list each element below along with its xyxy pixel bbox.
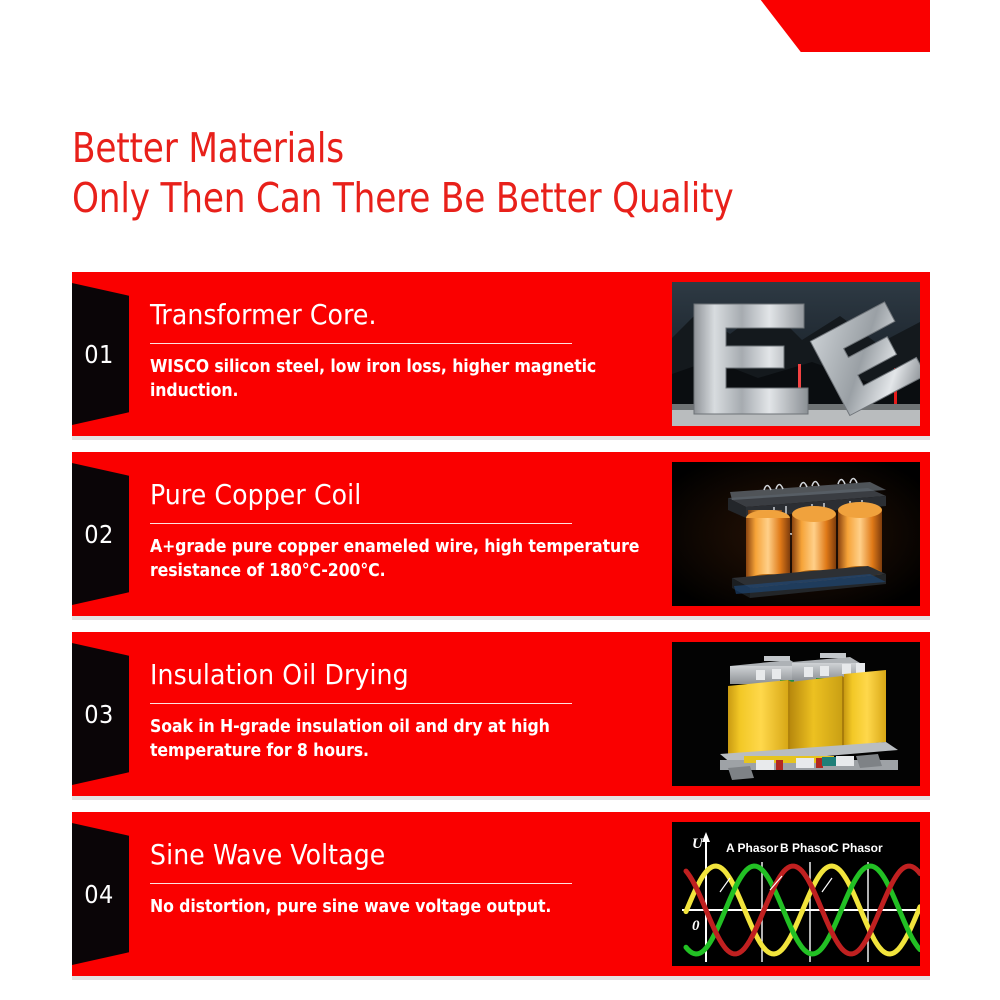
card-divider — [150, 883, 572, 884]
card-number-badge: 01 — [72, 283, 129, 425]
card-number-label: 03 — [84, 700, 117, 729]
card-number-label: 01 — [84, 340, 117, 369]
card-title: Sine Wave Voltage — [150, 838, 655, 872]
page-title-line-1: Better Materials — [72, 123, 733, 173]
card-title: Transformer Core. — [150, 298, 655, 332]
card-divider — [150, 523, 572, 524]
card-number-badge: 04 — [72, 823, 129, 965]
corner-accent-shape — [748, 0, 930, 52]
page-title-line-2: Only Then Can There Be Better Quality — [72, 173, 733, 223]
card-description: A+grade pure copper enameled wire, high … — [150, 535, 655, 583]
card-number-label: 04 — [84, 880, 117, 909]
feature-card-list: 01 Transformer Core. WISCO silicon steel… — [72, 272, 930, 976]
card-title: Insulation Oil Drying — [150, 658, 655, 692]
sine-wave-phasor-chart: U 0 A Phasor B Phasor C Phasor — [672, 822, 920, 966]
svg-text:U: U — [692, 836, 704, 852]
card-text-block: Sine Wave Voltage No distortion, pure si… — [150, 838, 655, 919]
card-text-block: Transformer Core. WISCO silicon steel, l… — [150, 298, 655, 403]
card-number-badge: 02 — [72, 463, 129, 605]
copper-coil-transformer-photo — [672, 462, 920, 606]
feature-card[interactable]: 01 Transformer Core. WISCO silicon steel… — [72, 272, 930, 436]
card-description: Soak in H-grade insulation oil and dry a… — [150, 715, 655, 763]
feature-card[interactable]: 04 Sine Wave Voltage No distortion, pure… — [72, 812, 930, 976]
svg-text:0: 0 — [692, 918, 700, 934]
insulation-oil-dry-transformer-photo — [672, 642, 920, 786]
svg-text:C Phasor: C Phasor — [830, 841, 883, 855]
feature-card[interactable]: 02 Pure Copper Coil A+grade pure copper … — [72, 452, 930, 616]
svg-text:B Phasor: B Phasor — [780, 841, 833, 855]
feature-card[interactable]: 03 Insulation Oil Drying Soak in H-grade… — [72, 632, 930, 796]
card-divider — [150, 703, 572, 704]
svg-text:A Phasor: A Phasor — [726, 841, 779, 855]
card-text-block: Pure Copper Coil A+grade pure copper ena… — [150, 478, 655, 583]
card-number-badge: 03 — [72, 643, 129, 785]
transformer-core-laminations-photo — [672, 282, 920, 426]
card-text-block: Insulation Oil Drying Soak in H-grade in… — [150, 658, 655, 763]
card-number-label: 02 — [84, 520, 117, 549]
card-title: Pure Copper Coil — [150, 478, 655, 512]
card-divider — [150, 343, 572, 344]
page-title: Better Materials Only Then Can There Be … — [72, 123, 783, 223]
card-description: No distortion, pure sine wave voltage ou… — [150, 895, 655, 919]
card-description: WISCO silicon steel, low iron loss, high… — [150, 355, 655, 403]
